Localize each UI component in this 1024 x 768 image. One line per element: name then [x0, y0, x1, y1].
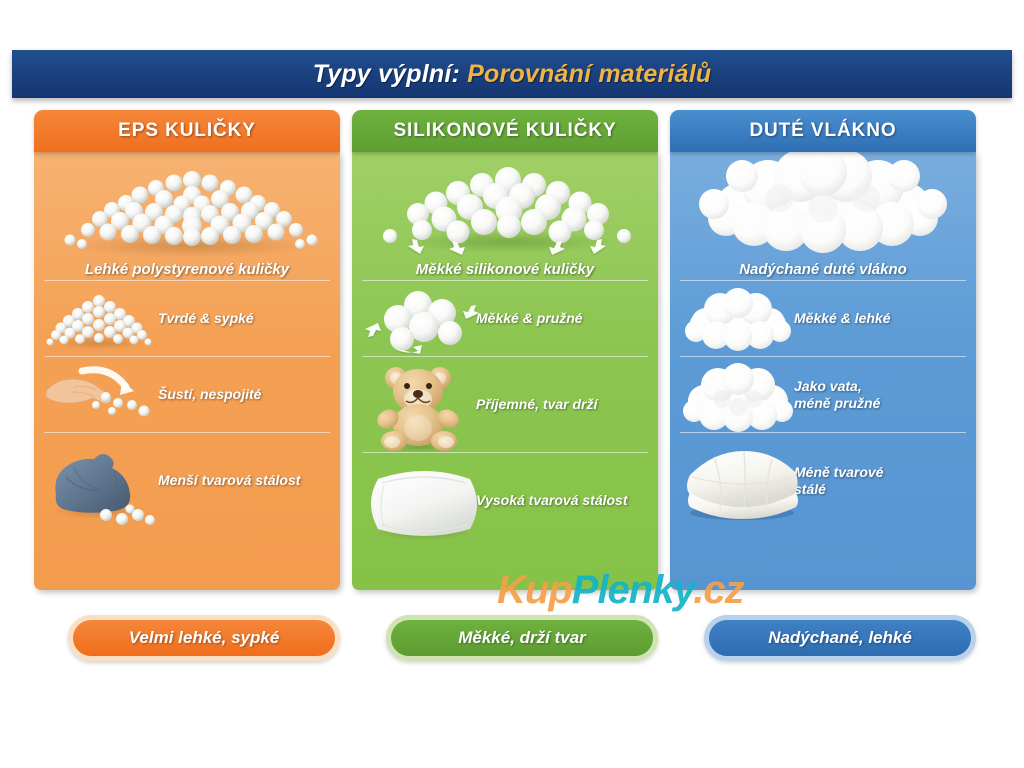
feature-text: Méně tvarové stálé [790, 464, 966, 497]
feature-text: Měkké & pružné [472, 310, 648, 327]
feature-row: Měkké & lehké [680, 280, 966, 356]
feature-row: Vysoká tvarová stálost [362, 452, 648, 548]
white-pillow-icon [362, 457, 488, 543]
page-title-part2: Porovnání materiálů [467, 60, 711, 88]
hero-caption-eps: Lehké polystyrenové kuličky [44, 261, 330, 278]
header-banner: Typy výplní: Porovnání materiálů [12, 50, 1012, 98]
feature-text: Příjemné, tvar drží [472, 396, 648, 413]
motion-arrow-icon [463, 305, 479, 319]
thumb-fiber-wadding [680, 361, 790, 429]
summary-pill-label: Nadýchané, lehké [768, 628, 912, 648]
hollow-fiber-cloud-icon [680, 152, 966, 260]
folded-duvet-icon [680, 437, 806, 523]
feature-text: Vysoká tvarová stálost [472, 492, 648, 509]
column-header-label: DUTÉ VLÁKNO [749, 120, 896, 142]
infographic-page: Typy výplní: Porovnání materiálů EPS KUL… [0, 0, 1024, 768]
summary-pill-silicone: Měkké, drží tvar [386, 615, 658, 661]
thumb-white-pillow [362, 457, 472, 545]
summary-pill-label: Měkké, drží tvar [458, 628, 586, 648]
column-eps: EPS KULIČKY [34, 110, 340, 590]
hero-eps-beads-pile: Lehké polystyrenové kuličky [44, 152, 330, 280]
eps-beads-small-pile-icon [44, 285, 154, 351]
thumb-eps-small-pile [44, 285, 154, 353]
fiber-wadding-cloud-icon [680, 361, 798, 433]
feature-text: Tvrdé & sypké [154, 310, 330, 327]
thumb-beanbag [44, 437, 154, 525]
thumb-fiber-small-cloud [680, 285, 790, 353]
eps-beads-pile-icon [44, 154, 330, 258]
page-title: Typy výplní: Porovnání materiálů [313, 60, 712, 89]
thumb-hand-pouring-beads [44, 361, 154, 429]
thumb-silicone-cluster [362, 285, 472, 353]
hand-pouring-beads-icon [44, 361, 162, 427]
comparison-columns: EPS KULIČKY [0, 110, 1024, 590]
feature-row: Šustí, nespojité [44, 356, 330, 432]
feature-row: Příjemné, tvar drží [362, 356, 648, 452]
feature-row: Měkké & pružné [362, 280, 648, 356]
column-header-label: EPS KULIČKY [118, 120, 256, 142]
feature-text: Měkké & lehké [790, 310, 966, 327]
watermark-logo: KupPlenky.cz [497, 568, 744, 613]
column-header-eps: EPS KULIČKY [34, 110, 340, 152]
hero-caption-fiber: Nadýchané duté vlákno [680, 261, 966, 278]
thumb-folded-duvet [680, 437, 790, 525]
feature-row: Méně tvarové stálé [680, 432, 966, 528]
column-body-silicone: Měkké silikonové kuličky [352, 152, 658, 590]
hero-silicone-balls: Měkké silikonové kuličky [362, 152, 648, 280]
motion-arrow-icon [365, 323, 381, 337]
feature-text: Jako vata, méně pružné [790, 378, 966, 411]
feature-row: Tvrdé & sypké [44, 280, 330, 356]
column-silicone: SILIKONOVÉ KULIČKY [352, 110, 658, 590]
watermark-part2: Plenky [572, 568, 693, 612]
feature-row: Menší tvarová stálost [44, 432, 330, 528]
teddy-bear-icon [362, 361, 480, 453]
column-header-label: SILIKONOVÉ KULIČKY [393, 120, 616, 142]
column-header-hollow-fiber: DUTÉ VLÁKNO [670, 110, 976, 152]
summary-pill-label: Velmi lehké, sypké [129, 628, 280, 648]
thumb-teddy-bear [362, 361, 472, 449]
column-body-eps: Lehké polystyrenové kuličky [34, 152, 340, 590]
hero-caption-silicone: Měkké silikonové kuličky [362, 261, 648, 278]
fiber-small-cloud-icon [680, 285, 798, 351]
beanbag-with-beads-icon [44, 437, 162, 525]
feature-text: Šustí, nespojité [154, 386, 330, 403]
watermark-part1: Kup [497, 568, 572, 612]
feature-row: Jako vata, méně pružné [680, 356, 966, 432]
feature-text: Menší tvarová stálost [154, 472, 330, 489]
silicone-balls-cluster-icon [362, 285, 480, 355]
column-hollow-fiber: DUTÉ VLÁKNO [670, 110, 976, 590]
summary-pill-hollow-fiber: Nadýchané, lehké [704, 615, 976, 661]
summary-pill-eps: Velmi lehké, sypké [68, 615, 340, 661]
page-title-part1: Typy výplní: [313, 60, 460, 88]
hero-fiber-cloud: Nadýchané duté vlákno [680, 152, 966, 280]
silicone-pom-balls-pile-icon [362, 154, 648, 258]
summary-pills: Velmi lehké, sypké Měkké, drží tvar Nadý… [0, 615, 1024, 675]
column-header-silicone: SILIKONOVÉ KULIČKY [352, 110, 658, 152]
watermark-part3: .cz [693, 568, 743, 612]
column-body-hollow-fiber: Nadýchané duté vlákno [670, 152, 976, 590]
